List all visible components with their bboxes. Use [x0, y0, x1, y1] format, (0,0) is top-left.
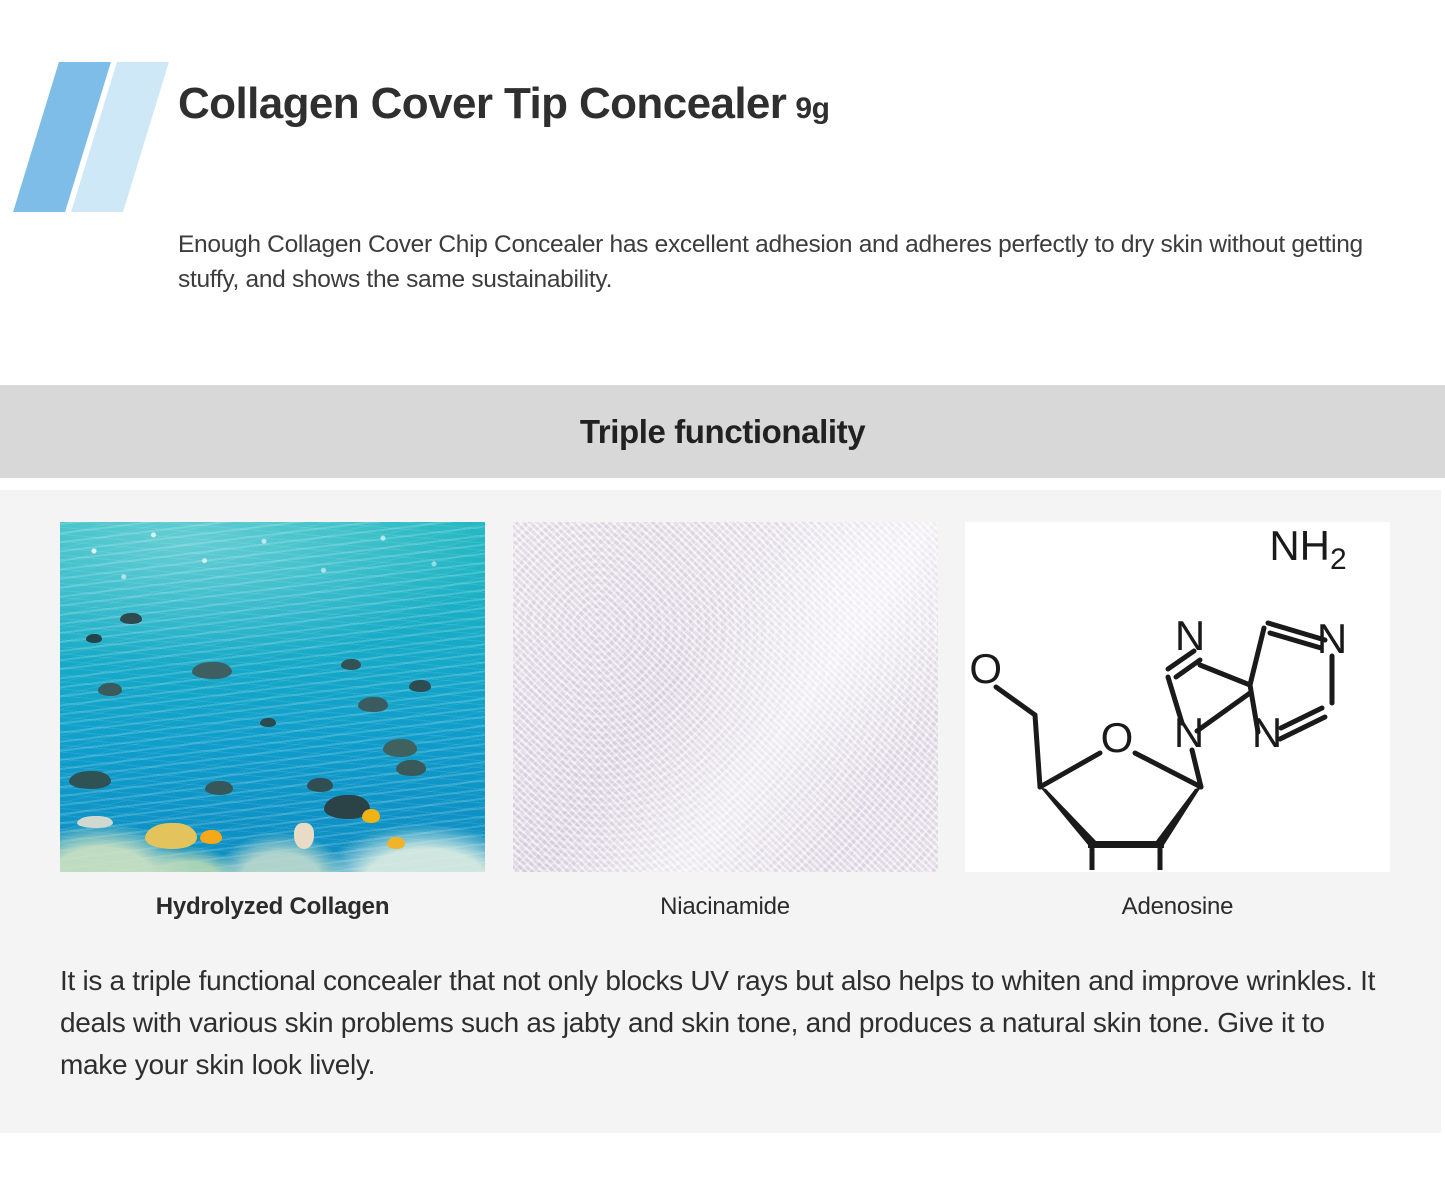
- fish: [260, 718, 276, 727]
- label-n3: N: [1251, 709, 1281, 756]
- fish: [383, 739, 417, 757]
- section-banner: Triple functionality: [0, 385, 1445, 478]
- white-powder-photo: [513, 522, 938, 872]
- page-title: Collagen Cover Tip Concealer9g: [178, 79, 830, 129]
- fish: [358, 697, 388, 712]
- fish-yellow: [362, 809, 380, 823]
- ingredient-card-adenosine: NH2 N N N N O OH OH HO: [965, 522, 1390, 921]
- fish: [120, 613, 142, 624]
- double-slash-logo-icon: [8, 62, 158, 212]
- fish: [86, 634, 102, 643]
- label-n1: N: [1316, 615, 1346, 662]
- water-sparkle: [60, 522, 485, 683]
- fish: [98, 683, 122, 696]
- fish: [192, 662, 232, 679]
- product-weight: 9g: [795, 92, 829, 125]
- label-nh2: NH2: [1269, 525, 1346, 576]
- powder-sheen: [513, 522, 938, 872]
- ingredient-card-niacinamide: Niacinamide: [513, 522, 938, 921]
- fish-yellow: [145, 823, 197, 849]
- coral-reef: [60, 795, 485, 872]
- fish: [77, 816, 113, 828]
- adenosine-structure-diagram: NH2 N N N N O OH OH HO: [965, 522, 1390, 872]
- underwater-ocean-photo: [60, 522, 485, 872]
- ingredient-caption: Hydrolyzed Collagen: [60, 893, 485, 921]
- adenosine-svg: NH2 N N N N O OH OH HO: [968, 525, 1388, 870]
- product-intro-text: Enough Collagen Cover Chip Concealer has…: [178, 228, 1423, 298]
- label-ho: HO: [968, 645, 1002, 692]
- fish: [294, 823, 314, 849]
- product-title: Collagen Cover Tip Concealer: [178, 79, 786, 128]
- label-n7: N: [1174, 612, 1204, 659]
- fish: [396, 760, 426, 776]
- fish: [409, 680, 431, 692]
- ingredients-summary-text: It is a triple functional concealer that…: [60, 960, 1390, 1086]
- ingredients-section: Hydrolyzed Collagen Niacinamide: [0, 490, 1441, 1133]
- fish: [69, 771, 111, 789]
- fish: [205, 781, 233, 795]
- ingredient-card-collagen: Hydrolyzed Collagen: [60, 522, 485, 921]
- fish: [341, 659, 361, 670]
- ingredient-grid: Hydrolyzed Collagen Niacinamide: [60, 522, 1390, 921]
- fish: [307, 778, 333, 792]
- label-ring-oxygen: O: [1100, 714, 1133, 761]
- fish-yellow: [387, 837, 405, 849]
- label-n9: N: [1173, 709, 1203, 756]
- fish-yellow: [200, 830, 222, 844]
- section-banner-title: Triple functionality: [580, 413, 865, 451]
- ingredient-caption: Niacinamide: [513, 893, 938, 921]
- page-header: Collagen Cover Tip Concealer9g Enough Co…: [0, 0, 1445, 385]
- ingredient-caption: Adenosine: [965, 893, 1390, 921]
